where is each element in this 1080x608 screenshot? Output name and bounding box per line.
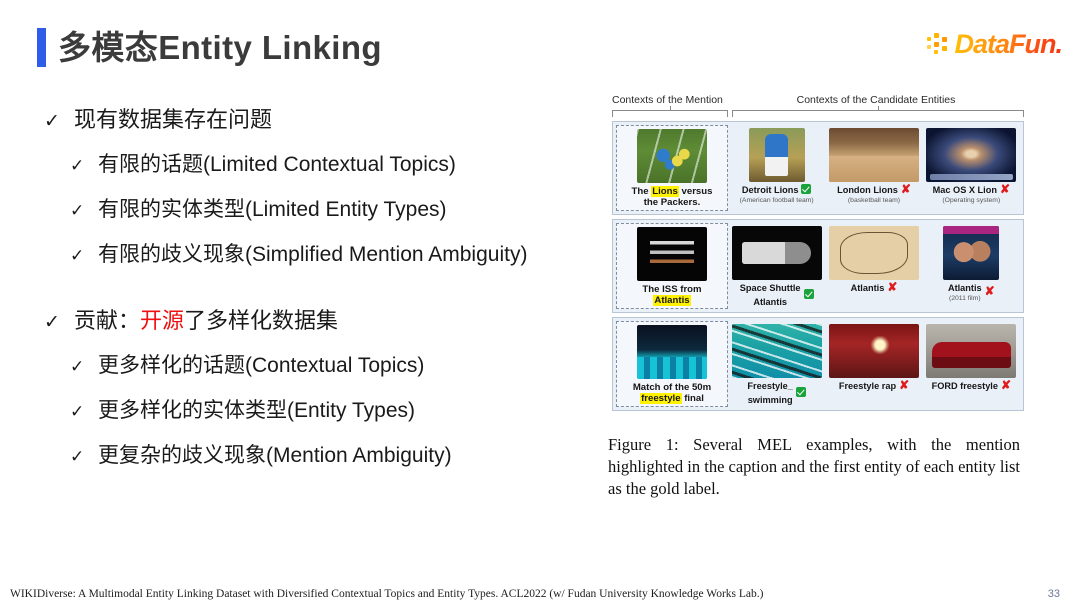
candidate-label: Freestyle rap (839, 381, 896, 392)
mention-caption: The ISS from Atlantis (642, 284, 701, 306)
bullet-lead-text: 现有数据集存在问题 (74, 99, 272, 141)
candidate-label: Atlantis (948, 283, 982, 294)
gold-check-icon (801, 184, 811, 194)
bullet-item-mention-ambiguity: ✓ 更复杂的歧义现象(Mention Ambiguity) (44, 434, 604, 479)
check-icon: ✓ (70, 234, 98, 278)
wrong-cross-icon: ✘ (1001, 380, 1011, 390)
bullet-item-text: 更复杂的歧义现象(Mention Ambiguity) (98, 434, 452, 478)
mention-line2: the Packers. (632, 197, 713, 208)
mention-post: versus (679, 186, 713, 197)
figure-header-candidates: Contexts of the Candidate Entities (728, 94, 1024, 110)
bullet-item-entity-types: ✓ 更多样化的实体类型(Entity Types) (44, 389, 604, 434)
candidate-label-line2: swimming (747, 395, 792, 406)
candidate-label: Atlantis (851, 283, 885, 294)
mention-line1: Match of the 50m (633, 382, 711, 393)
candidate-label: Detroit Lions (742, 185, 799, 196)
wrong-cross-icon: ✘ (899, 380, 909, 390)
mention-line1: The ISS from (642, 284, 701, 295)
slide-header: 多模态Entity Linking DataFun. (0, 0, 1080, 86)
candidate-label: FORD freestyle (932, 381, 998, 392)
check-icon: ✓ (44, 101, 74, 143)
candidate-cell: Detroit Lions (American football team) (728, 125, 825, 211)
bullet-item-limited-topics: ✓ 有限的话题(Limited Contextual Topics) (44, 143, 604, 188)
bullet-group-contributions: ✓ 贡献：开源了多样化数据集 ✓ 更多样化的话题(Contextual Topi… (44, 300, 604, 479)
figure-headers: Contexts of the Mention Contexts of the … (612, 94, 1024, 110)
bullet-lead-text: 贡献：开源了多样化数据集 (74, 300, 338, 342)
wrong-cross-icon: ✘ (1000, 184, 1010, 194)
datafun-logo: DataFun. (927, 27, 1062, 61)
contribution-suffix: 了多样化数据集 (184, 308, 338, 333)
mel-examples-figure: Contexts of the Mention Contexts of the … (612, 94, 1024, 411)
mention-caption: The Lions versus the Packers. (632, 186, 713, 208)
bracket-candidates (732, 110, 1024, 117)
freestyle-swimming-photo (732, 324, 822, 378)
bullet-lead-existing-datasets: ✓ 现有数据集存在问题 (44, 99, 604, 143)
candidate-label: Space Shuttle (740, 283, 801, 294)
candidate-cell: Atlantis (2011 film) ✘ (923, 223, 1020, 309)
figure-rows: The Lions versus the Packers. Detroit Li… (612, 121, 1024, 411)
bullet-item-simplified-ambiguity: ✓ 有限的歧义现象(Simplified Mention Ambiguity) (44, 233, 604, 278)
football-photo (637, 129, 707, 183)
candidate-label: Mac OS X Lion (933, 185, 997, 196)
figure-row: Match of the 50m freestyle final Freesty… (612, 317, 1024, 411)
check-icon: ✓ (70, 189, 98, 233)
bullet-item-text: 更多样化的实体类型(Entity Types) (98, 389, 415, 433)
bullet-item-text: 更多样化的话题(Contextual Topics) (98, 344, 424, 388)
check-icon: ✓ (70, 390, 98, 434)
mention-cell: The ISS from Atlantis (616, 223, 728, 309)
bullet-group-problems: ✓ 现有数据集存在问题 ✓ 有限的话题(Limited Contextual T… (44, 99, 604, 278)
check-icon: ✓ (70, 144, 98, 188)
candidate-cell: FORD freestyle ✘ (923, 321, 1020, 407)
gold-check-icon (804, 289, 814, 299)
mention-cell: The Lions versus the Packers. (616, 125, 728, 211)
gold-check-icon (796, 387, 806, 397)
candidate-cell: London Lions ✘ (basketball team) (825, 125, 922, 211)
atlantis-film-poster (943, 226, 999, 280)
bullet-lead-contribution: ✓ 贡献：开源了多样化数据集 (44, 300, 604, 344)
figure-row: The ISS from Atlantis Space Shuttle Atla… (612, 219, 1024, 313)
mention-highlight: Lions (651, 186, 679, 197)
contribution-highlight: 开源 (140, 308, 184, 333)
candidate-cell: Freestyle_ swimming (728, 321, 825, 407)
title-text: 多模态Entity Linking (58, 31, 382, 64)
bullet-list: ✓ 现有数据集存在问题 ✓ 有限的话题(Limited Contextual T… (44, 99, 604, 479)
wrong-cross-icon: ✘ (985, 286, 995, 296)
bullet-item-text: 有限的话题(Limited Contextual Topics) (98, 143, 456, 187)
candidate-sub: (Operating system) (942, 197, 1000, 205)
bracket-mention (612, 110, 728, 117)
figure-brackets (612, 110, 1024, 119)
figure-row: The Lions versus the Packers. Detroit Li… (612, 121, 1024, 215)
candidate-cell: Freestyle rap ✘ (825, 321, 922, 407)
candidate-sub: (2011 film) (948, 295, 982, 303)
wrong-cross-icon: ✘ (887, 282, 897, 292)
atlantis-map-photo (829, 226, 919, 280)
candidate-label-line2: Atlantis (740, 297, 801, 308)
iss-station-photo (637, 227, 707, 281)
swimming-match-photo (637, 325, 707, 379)
mention-cell: Match of the 50m freestyle final (616, 321, 728, 407)
page-title: 多模态Entity Linking (37, 28, 382, 67)
candidate-cell: Atlantis ✘ (825, 223, 922, 309)
space-shuttle-photo (732, 226, 822, 280)
candidate-cell: Space Shuttle Atlantis (728, 223, 825, 309)
title-accent-bar (37, 28, 46, 67)
galaxy-desktop-photo (926, 128, 1016, 182)
candidate-sub: (basketball team) (848, 197, 900, 205)
bullet-item-limited-entity-types: ✓ 有限的实体类型(Limited Entity Types) (44, 188, 604, 233)
mention-pre: The (632, 186, 652, 197)
mention-post: final (682, 393, 704, 404)
check-icon: ✓ (70, 345, 98, 389)
slide-footer: WIKIDiverse: A Multimodal Entity Linking… (10, 588, 1070, 600)
mention-highlight: Atlantis (653, 295, 690, 306)
candidate-sub: (American football team) (740, 197, 814, 205)
figure-caption: Figure 1: Several MEL examples, with the… (608, 434, 1020, 500)
football-player-photo (749, 128, 805, 182)
check-icon: ✓ (70, 435, 98, 479)
logo-wordmark: DataFun. (954, 31, 1062, 58)
mention-highlight: freestyle (640, 393, 681, 404)
bullet-item-text: 有限的歧义现象(Simplified Mention Ambiguity) (98, 233, 527, 277)
page-number: 33 (1048, 588, 1060, 600)
bullet-item-contextual-topics: ✓ 更多样化的话题(Contextual Topics) (44, 344, 604, 389)
ford-freestyle-car-photo (926, 324, 1016, 378)
candidate-label: London Lions (837, 185, 898, 196)
bullet-item-text: 有限的实体类型(Limited Entity Types) (98, 188, 447, 232)
basketball-gym-photo (829, 128, 919, 182)
freestyle-rap-photo (829, 324, 919, 378)
footer-reference: WIKIDiverse: A Multimodal Entity Linking… (10, 588, 764, 600)
candidate-cell: Mac OS X Lion ✘ (Operating system) (923, 125, 1020, 211)
contribution-prefix: 贡献： (74, 308, 140, 333)
mention-caption: Match of the 50m freestyle final (633, 382, 711, 404)
wrong-cross-icon: ✘ (901, 184, 911, 194)
check-icon: ✓ (44, 302, 74, 344)
candidate-label: Freestyle_ (747, 381, 792, 392)
logo-dots-icon (927, 33, 953, 55)
